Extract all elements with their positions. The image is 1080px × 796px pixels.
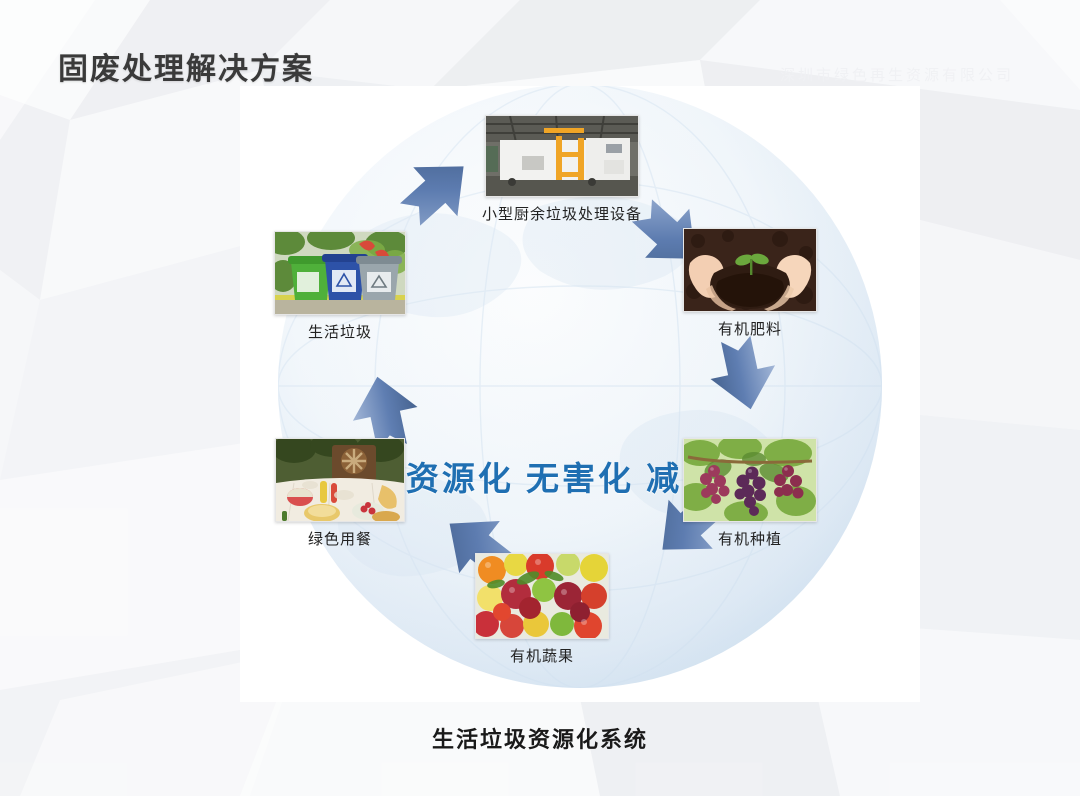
diagram-caption: 生活垃圾资源化系统	[0, 722, 1080, 754]
hands-holding-soil-photo	[683, 228, 817, 312]
grapes-on-vine-photo	[683, 438, 817, 522]
cycle-node-produce[interactable]: 有机蔬果	[432, 553, 652, 666]
cycle-node-dining-label: 绿色用餐	[230, 528, 450, 549]
fruits-vegetables-photo	[475, 553, 609, 639]
diagram-card: 资源化 无害化 减量化	[240, 86, 920, 702]
recycling-bins-photo	[274, 231, 406, 315]
cycle-node-produce-label: 有机蔬果	[432, 645, 652, 666]
cycle-node-equipment[interactable]: 小型厨余垃圾处理设备	[407, 115, 717, 224]
cycle-node-fertilizer[interactable]: 有机肥料	[640, 228, 860, 339]
page-title: 固废处理解决方案	[58, 44, 314, 88]
cycle-node-equipment-label: 小型厨余垃圾处理设备	[407, 203, 717, 224]
cycle-node-planting[interactable]: 有机种植	[640, 438, 860, 549]
cycle-node-fertilizer-label: 有机肥料	[640, 318, 860, 339]
cycle-node-waste[interactable]: 生活垃圾	[230, 231, 450, 342]
cycle-node-dining[interactable]: 绿色用餐	[230, 438, 450, 549]
kitchen-waste-machine-photo	[485, 115, 639, 197]
cycle-node-waste-label: 生活垃圾	[230, 321, 450, 342]
cycle-node-planting-label: 有机种植	[640, 528, 860, 549]
watermark-text: 深圳市绿色再生资源有限公司	[780, 64, 1014, 85]
picnic-table-food-photo	[275, 438, 405, 522]
